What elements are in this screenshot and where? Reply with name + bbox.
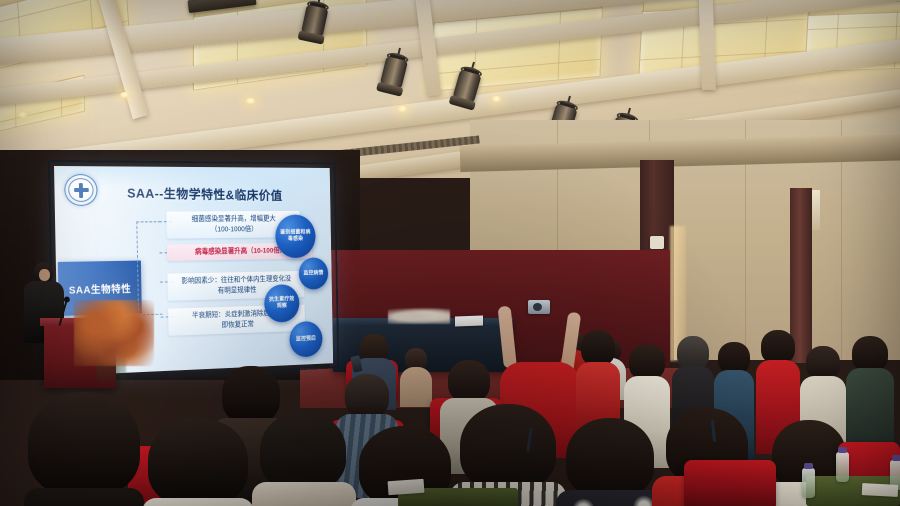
handout-paper — [862, 483, 899, 497]
attendee — [400, 348, 432, 404]
slide-left-block-label: SAA生物特性 — [69, 280, 132, 296]
recessed-downlight — [246, 98, 255, 104]
conference-hall-scene: SAA--生物学特性&临床价值 SAA生物特性 细菌感染显著升高，增幅更大 （1… — [0, 0, 900, 506]
slide-bubble: 监控病情 — [299, 257, 329, 289]
slide-title: SAA--生物学特性&临床价值 — [103, 182, 304, 204]
ceiling-beam — [698, 0, 716, 90]
wall-panel-strip — [812, 190, 820, 230]
slide-bubble-label: 监控病情 — [303, 270, 323, 277]
attendee-foreground — [142, 418, 254, 506]
attendee-foreground — [556, 418, 666, 506]
water-bottle — [802, 468, 815, 498]
recessed-downlight — [398, 106, 407, 112]
slide-bubble-label: 鉴别细菌和病毒感染 — [279, 230, 312, 243]
compact-camera — [528, 300, 550, 314]
medical-cross-emblem-icon — [64, 174, 98, 206]
recessed-downlight — [492, 96, 501, 102]
audience-area — [0, 300, 900, 506]
wall-mounted-speaker — [650, 236, 664, 249]
attendee-foreground — [24, 392, 144, 506]
water-bottle — [836, 452, 849, 482]
attendee-foreground — [252, 412, 356, 506]
chair — [684, 460, 776, 506]
recessed-downlight — [120, 92, 129, 98]
recessed-downlight — [18, 112, 27, 118]
handout-paper — [388, 479, 425, 495]
